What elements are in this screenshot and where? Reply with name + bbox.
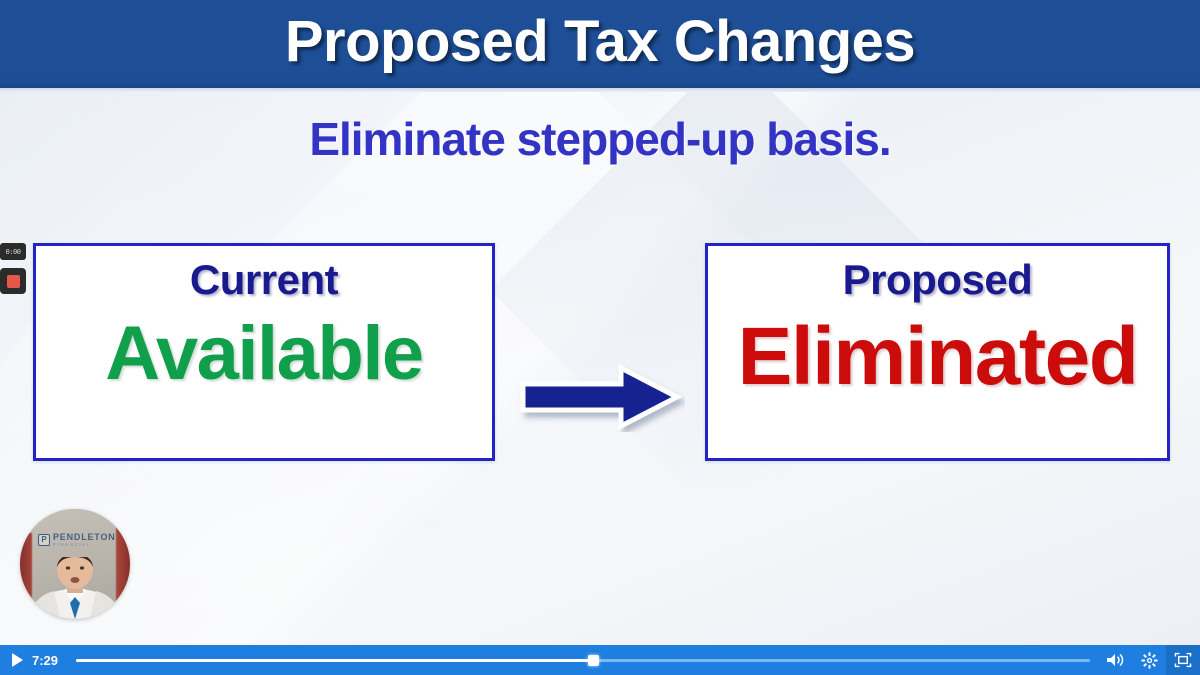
comparison-box-proposed: Proposed Eliminated [705,243,1170,461]
play-icon[interactable] [0,645,32,675]
slide-title: Proposed Tax Changes [285,13,915,71]
comparison-box-current: Current Available [33,243,495,461]
logo-brand-name: PENDLETON [53,533,116,542]
fullscreen-icon[interactable] [1166,645,1200,675]
logo-wordmark: PENDLETON FINANCIAL [53,533,116,548]
slide-title-banner: Proposed Tax Changes [0,0,1200,88]
comparison-value-current: Available [36,312,492,396]
webcam-video-bubble[interactable]: P PENDLETON FINANCIAL [20,509,130,619]
slide-subtitle: Eliminate stepped-up basis. [0,112,1200,166]
progress-slider[interactable] [76,645,1090,675]
pendleton-financial-logo: P PENDLETON FINANCIAL [38,533,116,548]
banner-sheen [0,78,1200,88]
banner-bottom-edge [0,88,1200,92]
video-player: Proposed Tax Changes Eliminate stepped-u… [0,0,1200,675]
play-triangle [12,653,23,667]
video-control-bar: 7:29 [0,645,1200,675]
right-arrow-icon [515,362,685,432]
comparison-heading-proposed: Proposed [708,256,1167,304]
stop-record-icon[interactable] [0,268,26,294]
recorder-timer: 0:00 [0,243,26,260]
logo-mark: P [38,534,50,546]
progress-played [76,659,593,662]
comparison-value-proposed: Eliminated [702,312,1173,402]
logo-brand-subtitle: FINANCIAL [53,543,116,548]
comparison-heading-current: Current [36,256,492,304]
progress-handle[interactable] [588,655,599,666]
webcam-presenter [20,557,130,619]
current-time-label: 7:29 [32,653,76,668]
screen-recorder-widget[interactable]: 0:00 [0,243,26,294]
stop-record-square [7,275,20,288]
slide-stage: Proposed Tax Changes Eliminate stepped-u… [0,0,1200,645]
gear-icon[interactable] [1132,645,1166,675]
volume-icon[interactable] [1098,645,1132,675]
